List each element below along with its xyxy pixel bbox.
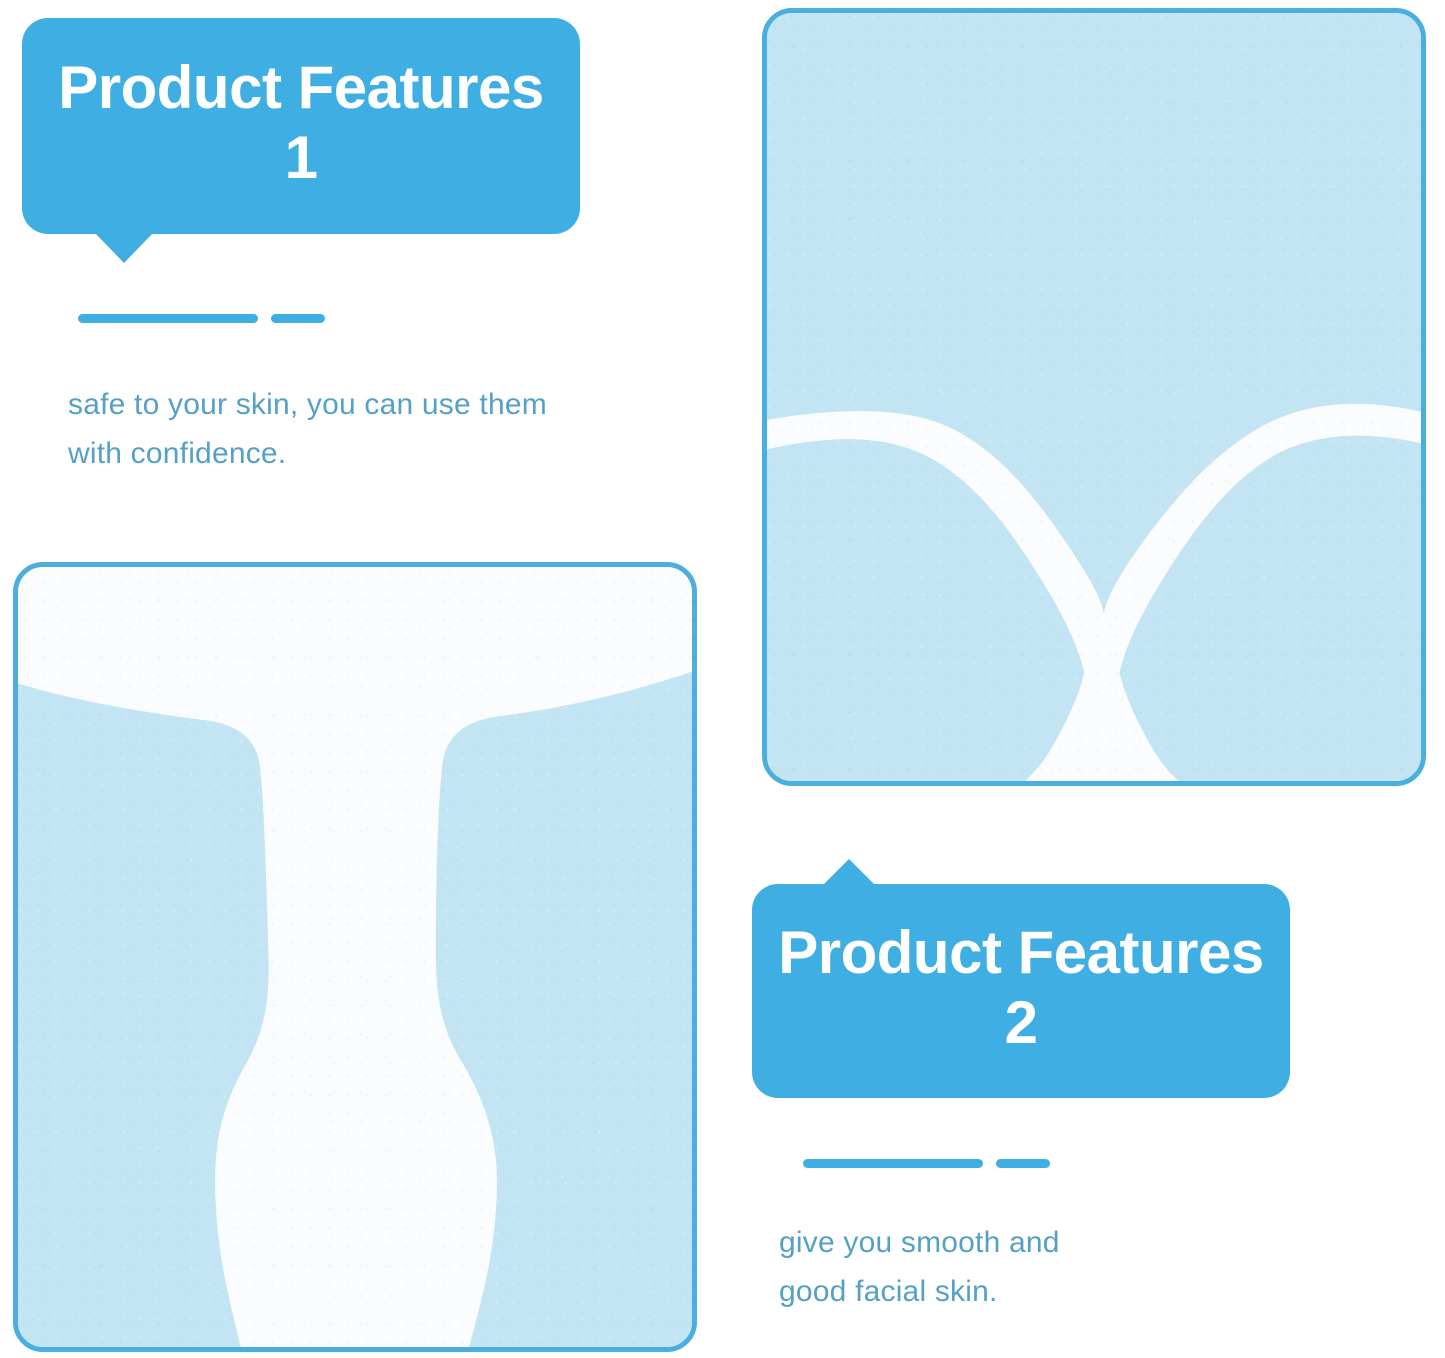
bubble-tail-up-icon (823, 859, 875, 885)
feature-1-divider (78, 314, 325, 323)
divider-short-dash-icon (996, 1159, 1050, 1168)
divider-long-dash-icon (803, 1159, 983, 1168)
infographic-canvas: Product Features 1 safe to your skin, yo… (0, 0, 1445, 1358)
feature-1-description: safe to your skin, you can use them with… (68, 381, 668, 478)
product-photo-hourglass (762, 8, 1426, 786)
bubble-tail-down-icon (95, 233, 153, 263)
feature-2-heading-bubble: Product Features 2 (752, 884, 1290, 1098)
divider-short-dash-icon (271, 314, 325, 323)
t-shape-mask-illustration (18, 567, 692, 1347)
feature-2-divider (803, 1159, 1050, 1168)
divider-long-dash-icon (78, 314, 258, 323)
hourglass-mask-illustration (767, 13, 1421, 781)
feature-1-heading-bubble: Product Features 1 (22, 18, 580, 234)
feature-2-heading-text: Product Features 2 (776, 918, 1266, 1057)
feature-2-description: give you smooth and good facial skin. (779, 1219, 1299, 1316)
product-photo-t-shape (13, 562, 697, 1352)
feature-1-heading-text: Product Features 1 (46, 53, 556, 192)
